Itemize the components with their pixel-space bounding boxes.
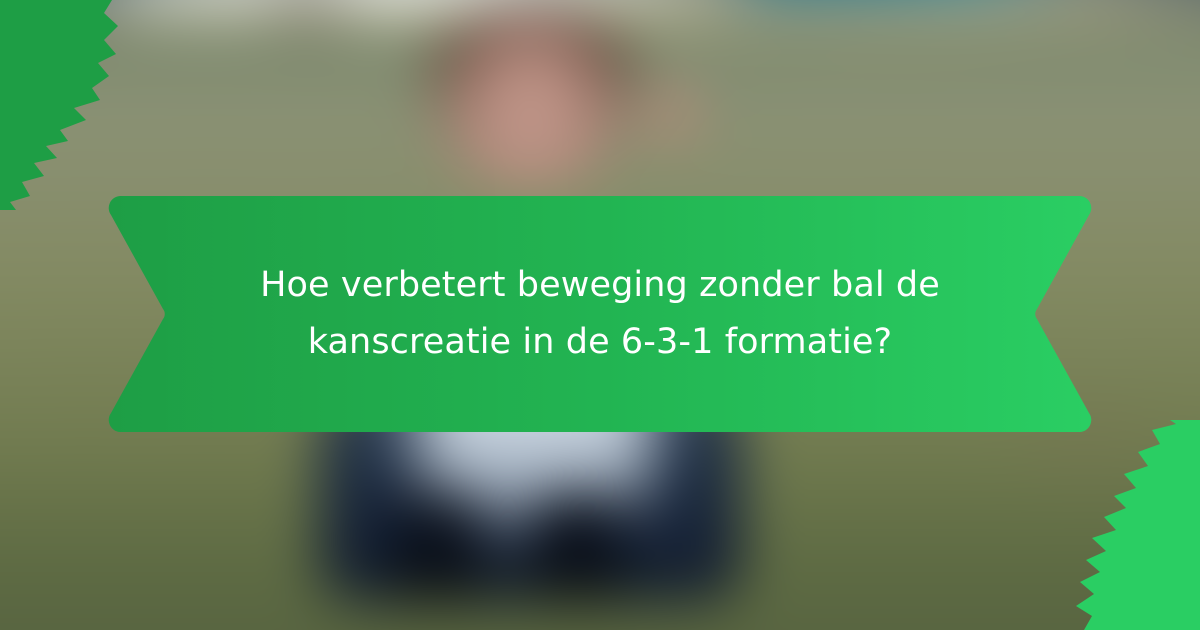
person-head: [436, 9, 626, 186]
banner-canvas: Hoe verbetert beweging zonder bal de kan…: [0, 0, 1200, 630]
person-hand: [635, 81, 704, 144]
background-blob-mid: [244, 0, 374, 50]
torn-edge-bottom-right: [1000, 420, 1200, 630]
torn-edge-top-left: [0, 0, 190, 210]
person-leg-right: [531, 493, 622, 601]
person-leg-left: [393, 493, 484, 601]
ribbon-banner: [108, 196, 1092, 432]
